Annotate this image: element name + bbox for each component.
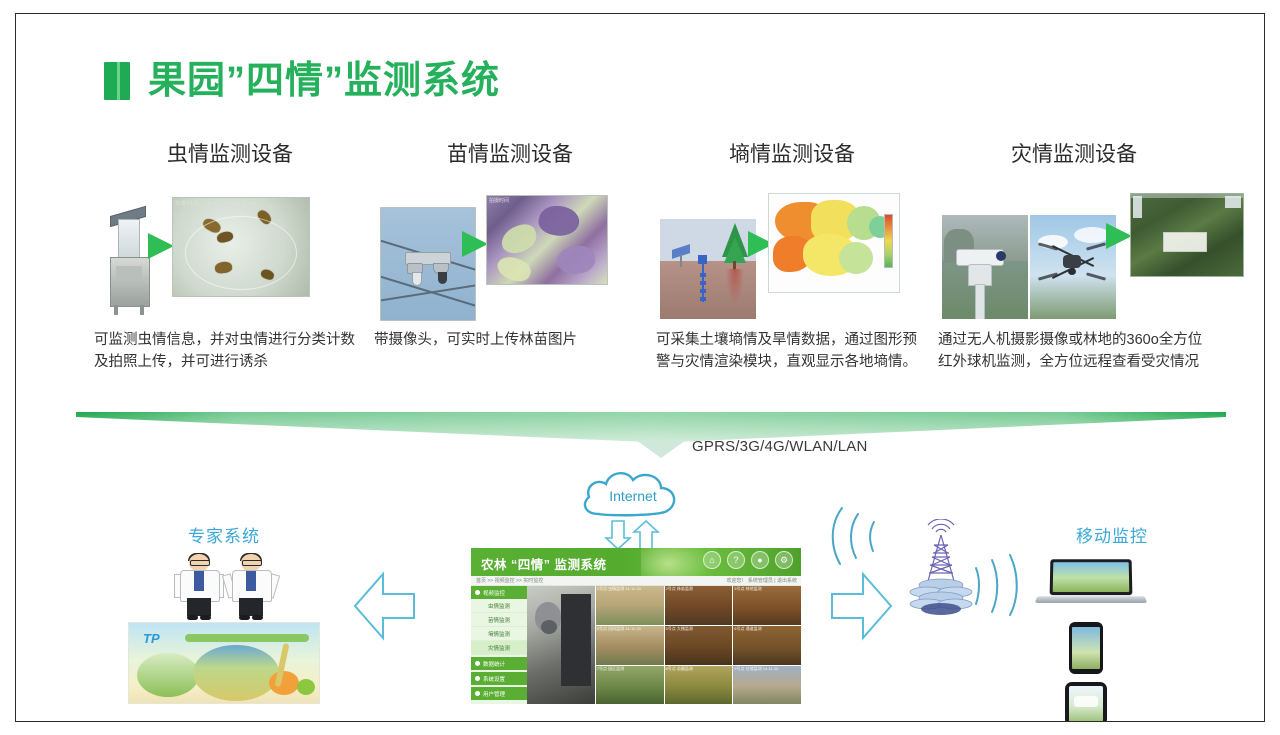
column-title: 墒情监测设备 — [656, 144, 928, 165]
dashboard-title: 农林 “四情” 监测系统 — [481, 554, 606, 573]
wire-camera-icon — [380, 207, 476, 321]
video-cell-label: 6号点 通道监测 — [734, 626, 761, 632]
page-title-text: 果园”四情”监测系统 — [148, 62, 500, 100]
device-column-disaster: 灾情监测设备 — [938, 144, 1210, 412]
user-icon[interactable]: ● — [751, 551, 769, 569]
video-cell-label: 4号点 田间监测 14-11-20 — [597, 626, 641, 632]
mobile-monitoring-label: 移动监控 — [1076, 522, 1148, 547]
settings-icon[interactable]: ⚙ — [775, 551, 793, 569]
signal-wave-left-icon — [828, 502, 898, 572]
aerial-map-icon — [1130, 193, 1244, 277]
arrow-right-icon — [828, 570, 894, 642]
page-title: 果园”四情”监测系统 — [104, 62, 500, 100]
sidebar-group-2[interactable]: 用户管理 — [471, 687, 527, 700]
video-cell[interactable]: 8号点 苗圃监测 — [665, 666, 733, 704]
sidebar-item-2[interactable]: 墒情监测 — [471, 627, 527, 641]
expert-system-label: 专家系统 — [188, 522, 260, 547]
square-bullet-icon — [104, 62, 130, 100]
device-column-moisture: 墒情监测设备 — [656, 144, 928, 412]
video-cell-label: 7号点 园区监测 — [597, 666, 624, 672]
column-artwork: 拍摄时间 — [374, 189, 646, 319]
sidebar-group-1[interactable]: 系统设置 — [471, 672, 527, 685]
column-description: 通过无人机摄影摄像或林地的360o全方位红外球机监测，全方位远程查看受灾情况 — [938, 329, 1210, 374]
laptop-icon — [1036, 559, 1146, 611]
column-description: 可采集土壤墒情及旱情数据，通过图形预警与灾情渲染模块，直观显示各地墒情。 — [656, 329, 928, 374]
drone-icon — [1030, 215, 1116, 319]
agriculture-banner-image: TP — [128, 622, 320, 704]
column-artwork — [938, 189, 1210, 319]
help-icon[interactable]: ? — [727, 551, 745, 569]
green-funnel-icon — [76, 412, 1226, 460]
smartphone-icon — [1069, 622, 1103, 674]
video-cell[interactable]: 5号点 大棚监测 — [665, 626, 733, 665]
sidebar-item-0[interactable]: 虫情监测 — [471, 599, 527, 613]
column-title: 灾情监测设备 — [938, 144, 1210, 165]
signal-wave-right-icon — [968, 554, 1028, 616]
video-cell-label: 9号点 仓储监测 14-11-20 — [734, 666, 778, 672]
sidebar-item-3[interactable]: 灾情监测 — [471, 641, 527, 655]
seedling-photo-icon: 拍摄时间 — [486, 195, 608, 285]
video-cell-label: 5号点 大棚监测 — [666, 626, 693, 632]
flow-arrow-icon — [148, 233, 174, 259]
video-cell-wide[interactable] — [527, 586, 595, 704]
column-artwork — [656, 189, 928, 319]
banner-logo: TP — [143, 631, 160, 646]
up-down-arrow-icon — [604, 520, 660, 550]
column-description: 可监测虫情信息，并对虫情进行分类计数及拍照上传，并可进行诱杀 — [94, 329, 366, 374]
slide-canvas: 果园”四情”监测系统 虫情监测设备 拍摄时间：14-11-20-08-35-36 — [15, 13, 1265, 722]
photo-timestamp: 拍摄时间：14-11-20-08-35-36 — [175, 199, 257, 207]
network-protocols-label: GPRS/3G/4G/WLAN/LAN — [692, 438, 868, 455]
ptz-camera-icon — [942, 215, 1028, 319]
sidebar-header[interactable]: 视频监控 — [471, 586, 527, 599]
column-description: 带摄像头，可实时上传林苗图片 — [374, 329, 646, 351]
video-cell-label: 3号点 林地监测 — [734, 586, 761, 592]
flow-arrow-icon — [462, 231, 488, 257]
video-feed-grid: 1号点 虫情监测 14-11-20 2号点 林苗监测 3号点 林地监测 4号点 … — [527, 586, 801, 704]
status-text: 欢迎您！ 系统管理员 | 退出系统 — [727, 577, 797, 584]
video-cell-label: 2号点 林苗监测 — [666, 586, 693, 592]
cloud-icon: Internet — [573, 464, 693, 524]
dashboard-header: 农林 “四情” 监测系统 ⌂ ? ● ⚙ — [471, 548, 801, 576]
soil-sensor-icon — [660, 219, 756, 319]
column-title: 苗情监测设备 — [374, 144, 646, 165]
video-cell[interactable]: 2号点 林苗监测 — [665, 586, 733, 625]
video-cell[interactable]: 9号点 仓储监测 14-11-20 — [733, 666, 801, 704]
video-cell[interactable]: 3号点 林地监测 — [733, 586, 801, 625]
dashboard-header-icons: ⌂ ? ● ⚙ — [703, 551, 793, 569]
dashboard-sidebar: 视频监控 虫情监测 苗情监测 墒情监测 灾情监测 数据统计 系统设置 用户管理 — [471, 586, 527, 704]
breadcrumb-text: 首页 >> 视频监控 >> 实时监控 — [476, 577, 543, 584]
monitoring-dashboard[interactable]: 农林 “四情” 监测系统 ⌂ ? ● ⚙ 首页 >> 视频监控 >> 实时监控 … — [471, 548, 801, 704]
video-cell[interactable]: 7号点 园区监测 — [596, 666, 664, 704]
arrow-left-icon — [352, 570, 418, 642]
video-cell-label: 8号点 苗圃监测 — [666, 666, 693, 672]
home-icon[interactable]: ⌂ — [703, 551, 721, 569]
video-cell[interactable]: 4号点 田间监测 14-11-20 — [596, 626, 664, 665]
dashboard-breadcrumb: 首页 >> 视频监控 >> 实时监控 欢迎您！ 系统管理员 | 退出系统 — [471, 576, 801, 586]
sidebar-group-0[interactable]: 数据统计 — [471, 657, 527, 670]
device-column-insect: 虫情监测设备 拍摄时间：14-11-20-08-35-36 可监测虫情信息 — [94, 144, 366, 412]
column-artwork: 拍摄时间：14-11-20-08-35-36 — [94, 189, 366, 319]
sidebar-item-1[interactable]: 苗情监测 — [471, 613, 527, 627]
two-experts-icon — [176, 554, 286, 622]
flow-arrow-icon — [1106, 223, 1132, 249]
column-title: 虫情监测设备 — [94, 144, 366, 165]
moisture-map-icon — [768, 193, 900, 293]
insect-photo-icon: 拍摄时间：14-11-20-08-35-36 — [172, 197, 310, 297]
video-cell-label: 1号点 虫情监测 14-11-20 — [597, 586, 641, 592]
device-column-seedling: 苗情监测设备 拍摄时间 — [374, 144, 646, 412]
video-cell[interactable]: 1号点 虫情监测 14-11-20 — [596, 586, 664, 625]
cloud-label: Internet — [573, 464, 693, 524]
video-cell[interactable]: 6号点 通道监测 — [733, 626, 801, 665]
tablet-icon — [1065, 682, 1107, 722]
device-columns: 虫情监测设备 拍摄时间：14-11-20-08-35-36 可监测虫情信息 — [86, 144, 1226, 412]
